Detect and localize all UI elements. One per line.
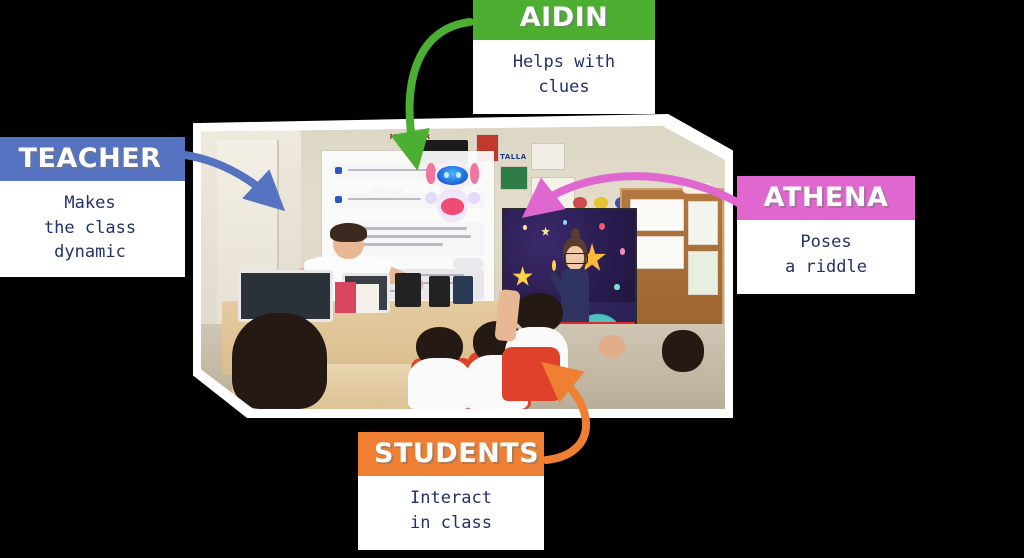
chair-3: [502, 347, 560, 401]
book-2: [356, 284, 380, 312]
callout-aidin-label: AIDIN: [473, 0, 655, 40]
book-1: [335, 282, 356, 313]
robot-belly-panel: [441, 198, 464, 214]
callout-aidin-description: Helps with clues: [473, 40, 655, 114]
robot-ear-right: [470, 163, 479, 184]
robot-eye-right: [456, 172, 461, 178]
callout-aidin[interactable]: AIDIN Helps with clues: [473, 0, 655, 114]
star-dot-2: [599, 223, 606, 231]
athena-glasses-icon: [564, 253, 587, 263]
callout-athena-description: Poses a riddle: [737, 220, 915, 294]
callout-students-label: STUDENTS: [358, 432, 544, 476]
photo-image: MONITOR TECLAS RATÓN ITALLA: [201, 126, 725, 409]
tablet-2: [429, 276, 450, 307]
callout-athena-label: ATHENA: [737, 176, 915, 220]
classroom-photo: MONITOR TECLAS RATÓN ITALLA: [193, 114, 733, 418]
star-small-1: [541, 227, 550, 237]
slide-button-1: [453, 258, 484, 268]
corkboard-paper-2: [630, 236, 684, 269]
callout-teacher-description: Makes the class dynamic: [0, 181, 185, 277]
tablet-1: [395, 273, 421, 307]
corkboard-paper-3: [688, 201, 718, 245]
robot-eye-left: [444, 172, 449, 178]
wall-poster-1: [531, 143, 564, 170]
diagram-canvas: MONITOR TECLAS RATÓN ITALLA: [0, 0, 1024, 558]
wall-label-italla: ITALLA: [497, 153, 527, 161]
corkboard-tag: [682, 182, 714, 194]
robot-visor: [437, 166, 467, 185]
callout-students-description: Interact in class: [358, 476, 544, 550]
student-5: [662, 330, 704, 372]
tablet-3: [453, 276, 474, 304]
wall-label-monitor: MONITOR: [390, 133, 431, 141]
corkboard-paper-1: [630, 199, 684, 232]
teacher-hair: [330, 223, 367, 242]
wall-sign-green: [500, 166, 528, 191]
star-left: [512, 266, 533, 288]
callout-students[interactable]: STUDENTS Interact in class: [358, 432, 544, 550]
robot-arm-left: [425, 192, 437, 204]
callout-teacher-label: TEACHER: [0, 137, 185, 181]
corkboard-paper-4: [688, 251, 718, 295]
callout-athena[interactable]: ATHENA Poses a riddle: [737, 176, 915, 294]
student-1: [232, 313, 326, 409]
student-hand: [599, 335, 625, 358]
athena-sweater: [561, 269, 589, 327]
star-dot-4: [563, 220, 567, 225]
callout-teacher[interactable]: TEACHER Makes the class dynamic: [0, 137, 185, 277]
aidin-robot-mascot: [429, 157, 476, 231]
star-dot-1: [523, 225, 527, 230]
star-dot-5: [614, 284, 619, 290]
athena-star-wand: [552, 260, 556, 271]
student-2-body: [408, 358, 471, 409]
star-dot-3: [620, 248, 625, 254]
